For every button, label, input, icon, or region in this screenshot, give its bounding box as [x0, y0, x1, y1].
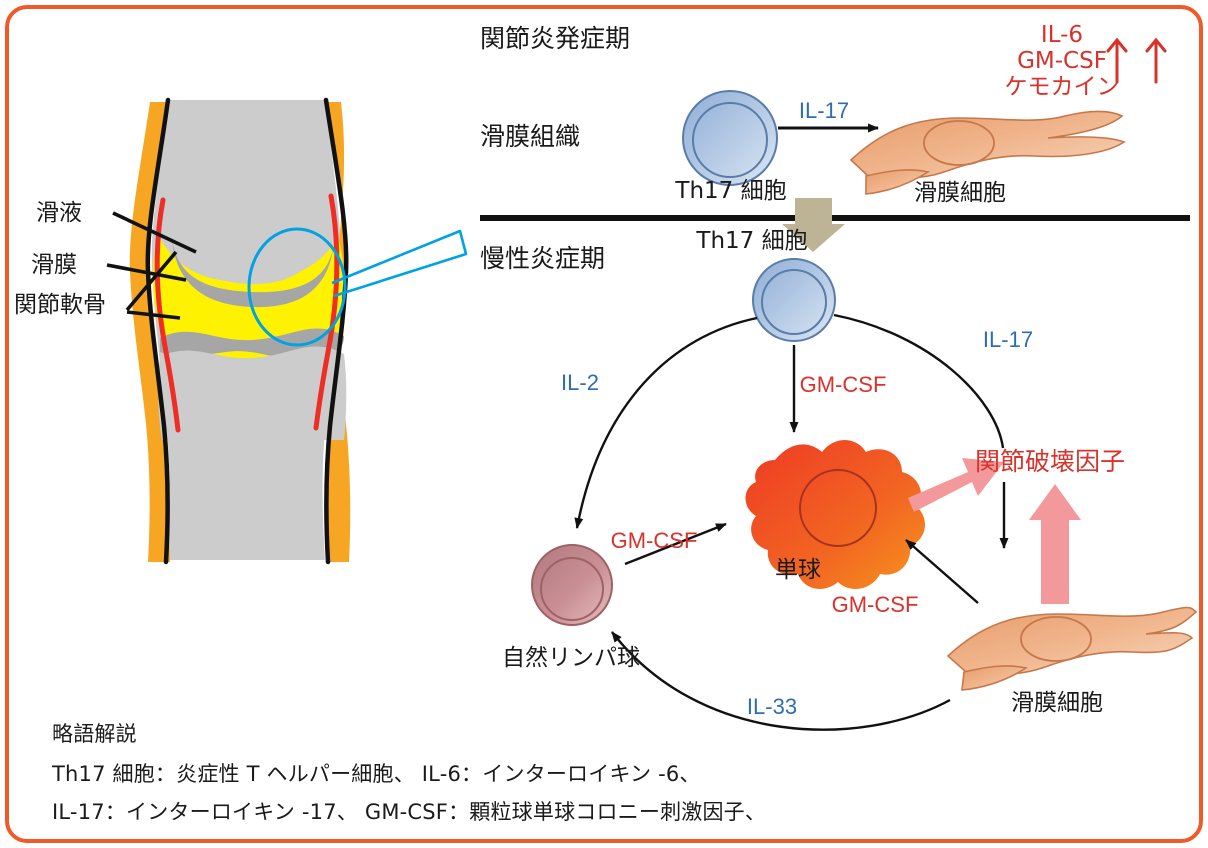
- label-joint-destruction-factor: 関節破壊因子: [975, 448, 1125, 477]
- joint-label-synovial-fluid: 滑液: [36, 200, 82, 226]
- edge-label-il17-bottom: IL-17: [983, 327, 1033, 352]
- tissue-label-synovium: 滑膜組織: [480, 123, 580, 152]
- phase-title-onset: 関節炎発症期: [480, 25, 630, 54]
- cytokine-label-il17-top: IL-17: [799, 98, 849, 123]
- th17-cell-bottom: [753, 259, 835, 341]
- edge-label-gmcsf-th17: GM-CSF: [800, 372, 887, 397]
- cell-label-fibroblast-top: 滑膜細胞: [914, 180, 1006, 206]
- cell-label-fibroblast-bottom: 滑膜細胞: [1011, 690, 1103, 716]
- magnifier-cone: [332, 231, 466, 296]
- footer-line-2: IL-17：インターロイキン -17、 GM-CSF：顆粒球単球コロニー刺激因子…: [52, 800, 766, 824]
- joint-label-synovium: 滑膜: [31, 252, 77, 278]
- joint-label-articular-cartilage: 関節軟骨: [14, 292, 106, 318]
- edge-label-il2: IL-2: [561, 370, 599, 395]
- cell-label-monocyte: 単球: [775, 557, 821, 583]
- femur-condyle: [175, 150, 326, 284]
- diagram-canvas: 滑液 滑膜 関節軟骨 関節炎発症期 滑膜組織 Th17 細胞 IL-17 滑膜細…: [0, 0, 1208, 848]
- output-label-gmcsf: GM-CSF: [1017, 48, 1107, 74]
- cell-label-th17-top: Th17 細胞: [675, 178, 786, 204]
- monocyte-cell: [746, 440, 925, 589]
- cell-label-ilc: 自然リンパ球: [502, 645, 640, 671]
- ilc-cell: [532, 545, 612, 625]
- edge-label-gmcsf-fibroblast: GM-CSF: [832, 592, 919, 617]
- pink-arrow-fibroblast-to-destruction: [1029, 484, 1081, 604]
- footer-line-1: Th17 細胞：炎症性 T ヘルパー細胞、 IL-6：インターロイキン -6、: [52, 762, 701, 786]
- knee-joint-illustration: [107, 100, 466, 562]
- fibroblast-cell-bottom: [948, 608, 1196, 691]
- output-label-chemokine: ケモカイン: [1005, 74, 1120, 100]
- cell-label-th17-bottom: Th17 細胞: [696, 228, 807, 254]
- edge-th17-to-ilc: [577, 318, 757, 528]
- phase-title-chronic: 慢性炎症期: [480, 245, 605, 274]
- diagram-graphics: [0, 0, 1208, 848]
- edge-label-gmcsf-ilc: GM-CSF: [611, 528, 698, 553]
- edge-label-il33: IL-33: [747, 694, 797, 719]
- output-label-il6: IL-6: [1041, 22, 1083, 48]
- th17-cell-top: [683, 91, 777, 185]
- footer-heading: 略語解説: [52, 722, 137, 746]
